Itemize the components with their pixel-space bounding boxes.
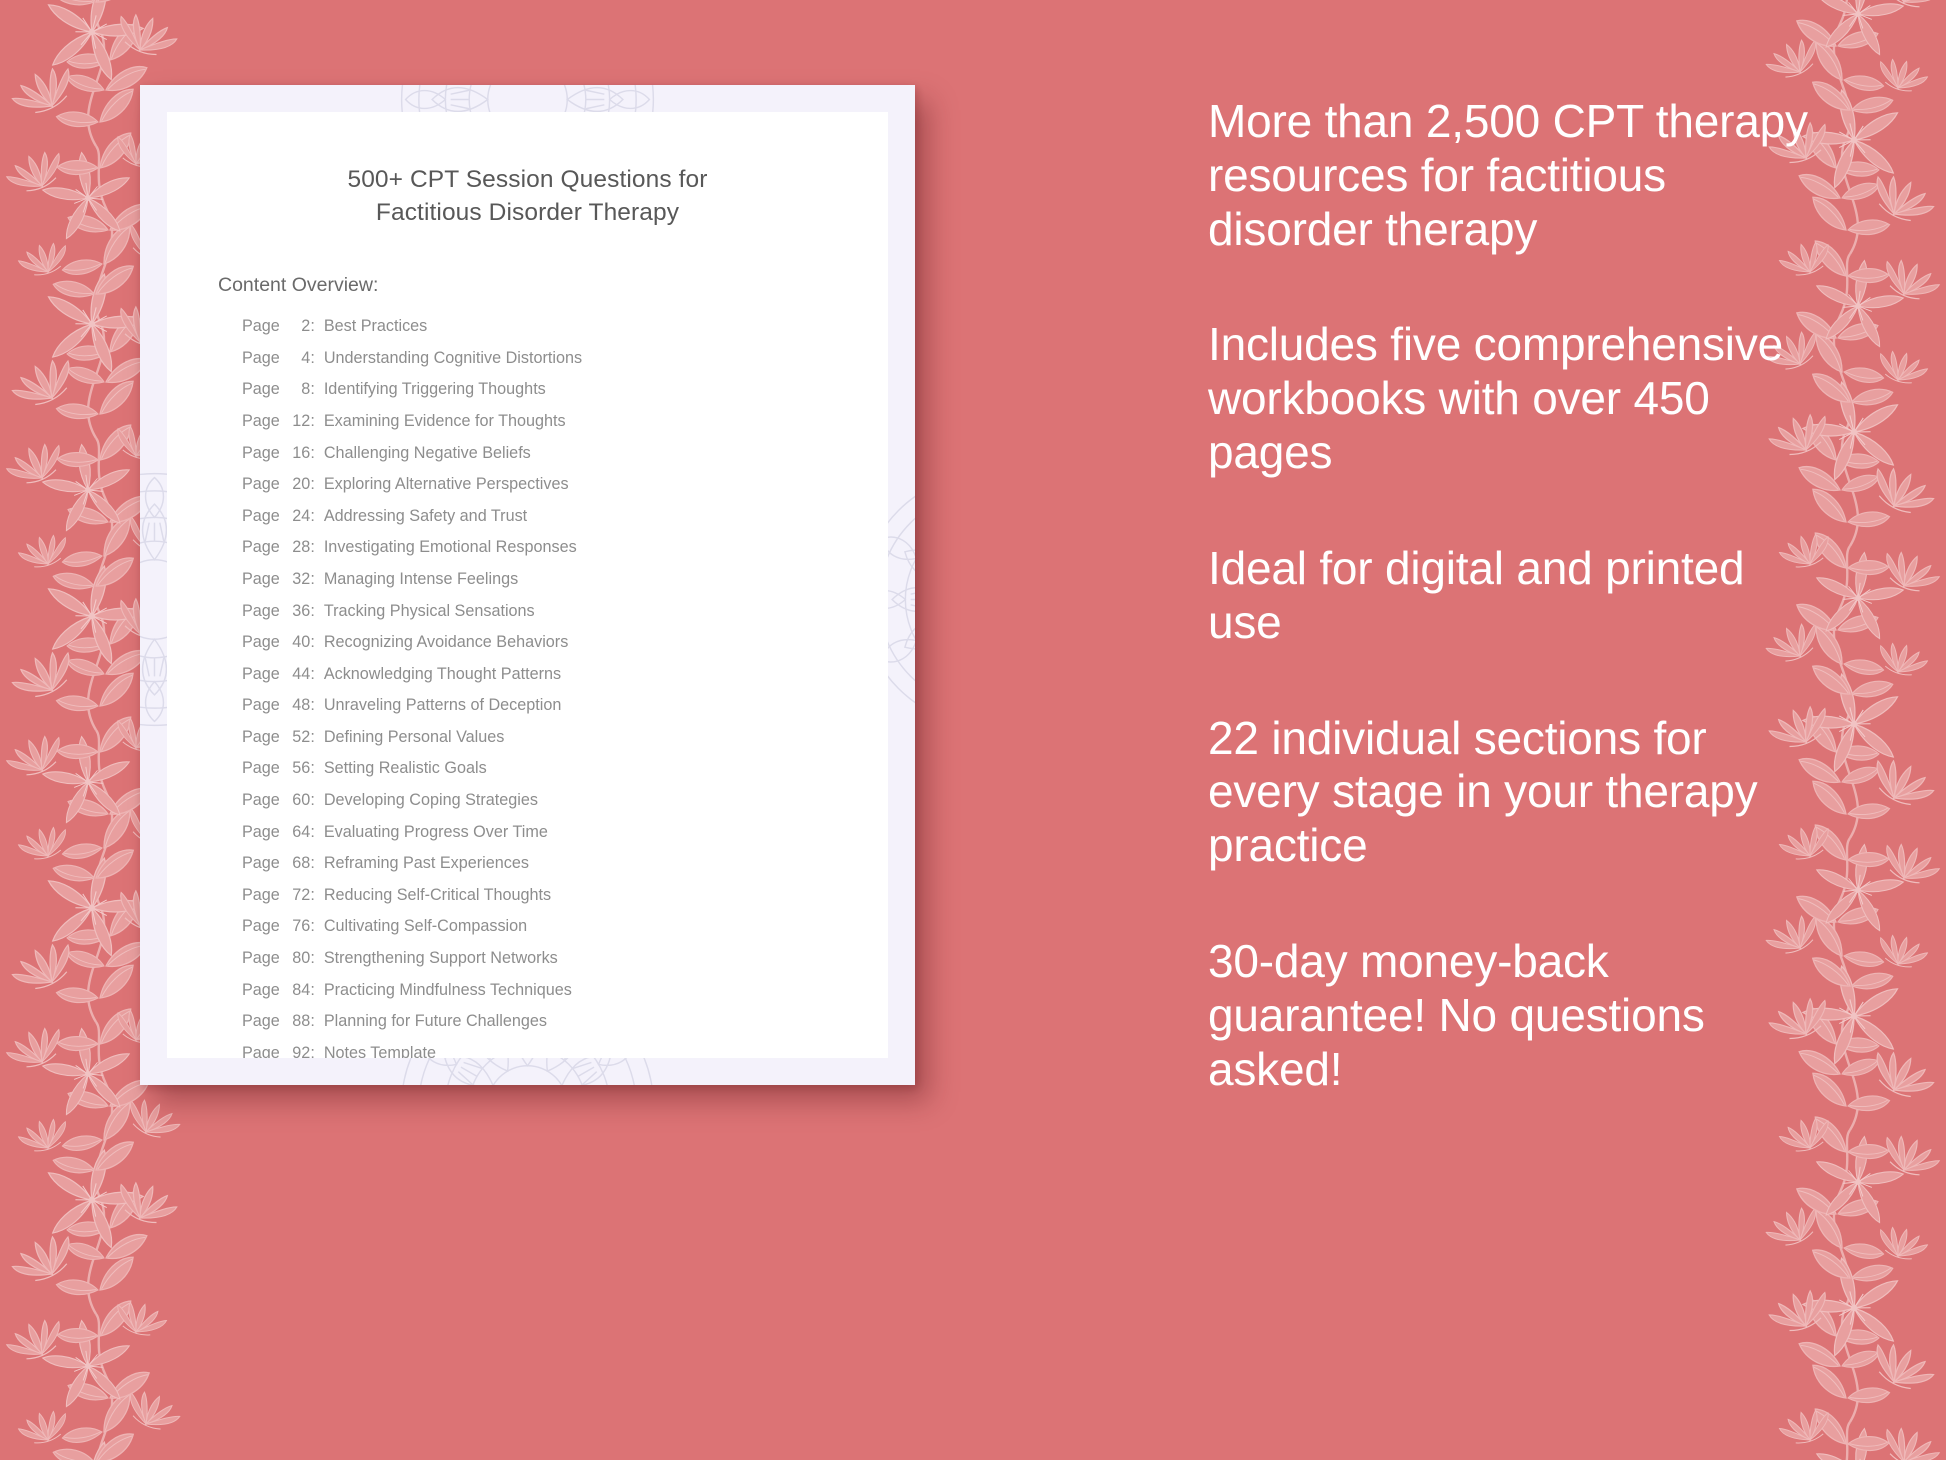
toc-entry-title: Setting Realistic Goals [324, 760, 487, 776]
toc-page-number: 76 [284, 918, 310, 934]
toc-page-number: 92 [284, 1045, 310, 1058]
toc-page-word: Page [242, 318, 280, 334]
toc-entry-title: Exploring Alternative Perspectives [324, 476, 569, 492]
toc-colon: : [310, 539, 315, 555]
toc-entry[interactable]: Page 80:Strengthening Support Networks [242, 950, 888, 982]
toc-colon: : [310, 824, 315, 840]
toc-colon: : [310, 603, 315, 619]
toc-entry-title: Unraveling Patterns of Deception [324, 697, 562, 713]
toc-entry[interactable]: Page 36:Tracking Physical Sensations [242, 603, 888, 635]
toc-page-number: 16 [284, 445, 310, 461]
toc-colon: : [310, 445, 315, 461]
toc-page-word: Page [242, 887, 280, 903]
toc-page-word: Page [242, 603, 280, 619]
toc-entry-title: Recognizing Avoidance Behaviors [324, 634, 568, 650]
toc-colon: : [310, 1013, 315, 1029]
toc-entry[interactable]: Page 60:Developing Coping Strategies [242, 792, 888, 824]
toc-entry-title: Notes Template [324, 1045, 436, 1058]
toc-page-number: 60 [284, 792, 310, 808]
toc-page-word: Page [242, 539, 280, 555]
toc-entry[interactable]: Page 8:Identifying Triggering Thoughts [242, 381, 888, 413]
toc-entry[interactable]: Page 56:Setting Realistic Goals [242, 760, 888, 792]
toc-colon: : [310, 697, 315, 713]
toc-entry-title: Reframing Past Experiences [324, 855, 529, 871]
toc-entry-title: Strengthening Support Networks [324, 950, 558, 966]
toc-page-number: 32 [284, 571, 310, 587]
toc-page-word: Page [242, 982, 280, 998]
toc-entry-title: Evaluating Progress Over Time [324, 824, 548, 840]
toc-colon: : [310, 508, 315, 524]
toc-page-word: Page [242, 413, 280, 429]
toc-entry-title: Best Practices [324, 318, 427, 334]
toc-colon: : [310, 887, 315, 903]
toc-page-number: 24 [284, 508, 310, 524]
toc-page-number: 20 [284, 476, 310, 492]
toc-page-word: Page [242, 697, 280, 713]
content-overview-label: Content Overview: [218, 274, 888, 297]
toc-page-word: Page [242, 634, 280, 650]
document-title-line-2: Factitious Disorder Therapy [207, 197, 848, 230]
toc-entry[interactable]: Page 2:Best Practices [242, 318, 888, 350]
toc-page-word: Page [242, 760, 280, 776]
toc-colon: : [310, 634, 315, 650]
toc-entry[interactable]: Page 92:Notes Template [242, 1045, 888, 1058]
toc-page-word: Page [242, 855, 280, 871]
toc-entry-title: Challenging Negative Beliefs [324, 445, 531, 461]
toc-entry[interactable]: Page 64:Evaluating Progress Over Time [242, 824, 888, 856]
toc-entry[interactable]: Page 44:Acknowledging Thought Patterns [242, 666, 888, 698]
toc-page-word: Page [242, 508, 280, 524]
toc-page-word: Page [242, 1045, 280, 1058]
toc-page-number: 8 [284, 381, 310, 397]
toc-colon: : [310, 318, 315, 334]
toc-entry-title: Developing Coping Strategies [324, 792, 538, 808]
toc-page-number: 72 [284, 887, 310, 903]
toc-page-number: 28 [284, 539, 310, 555]
toc-entry[interactable]: Page 24:Addressing Safety and Trust [242, 508, 888, 540]
toc-entry-title: Practicing Mindfulness Techniques [324, 982, 572, 998]
toc-entry[interactable]: Page 32:Managing Intense Feelings [242, 571, 888, 603]
toc-page-word: Page [242, 381, 280, 397]
toc-entry-title: Identifying Triggering Thoughts [324, 381, 546, 397]
document-title-line-1: 500+ CPT Session Questions for [207, 164, 848, 197]
marketing-bullet: More than 2,500 CPT therapy resources fo… [1208, 95, 1808, 256]
toc-page-number: 2 [284, 318, 310, 334]
document-title: 500+ CPT Session Questions for Factitiou… [167, 164, 888, 229]
toc-page-word: Page [242, 445, 280, 461]
toc-page-number: 80 [284, 950, 310, 966]
toc-entry[interactable]: Page 76:Cultivating Self-Compassion [242, 918, 888, 950]
toc-entry[interactable]: Page 20:Exploring Alternative Perspectiv… [242, 476, 888, 508]
toc-page-word: Page [242, 350, 280, 366]
marketing-bullet: 30-day money-back guarantee! No question… [1208, 935, 1808, 1096]
toc-page-number: 52 [284, 729, 310, 745]
toc-page-word: Page [242, 571, 280, 587]
toc-entry[interactable]: Page 40:Recognizing Avoidance Behaviors [242, 634, 888, 666]
toc-colon: : [310, 729, 315, 745]
toc-page-word: Page [242, 918, 280, 934]
toc-entry[interactable]: Page 12:Examining Evidence for Thoughts [242, 413, 888, 445]
toc-page-word: Page [242, 824, 280, 840]
toc-colon: : [310, 476, 315, 492]
toc-entry[interactable]: Page 68:Reframing Past Experiences [242, 855, 888, 887]
toc-entry-title: Cultivating Self-Compassion [324, 918, 527, 934]
document-page: 500+ CPT Session Questions for Factitiou… [167, 112, 888, 1058]
toc-entry-title: Reducing Self-Critical Thoughts [324, 887, 551, 903]
marketing-copy-column: More than 2,500 CPT therapy resources fo… [1208, 95, 1808, 1096]
toc-entry-title: Examining Evidence for Thoughts [324, 413, 566, 429]
toc-colon: : [310, 918, 315, 934]
toc-entry-title: Defining Personal Values [324, 729, 505, 745]
toc-entry-title: Investigating Emotional Responses [324, 539, 577, 555]
toc-entry[interactable]: Page 4:Understanding Cognitive Distortio… [242, 350, 888, 382]
toc-page-number: 64 [284, 824, 310, 840]
toc-entry-title: Managing Intense Feelings [324, 571, 518, 587]
toc-page-number: 4 [284, 350, 310, 366]
toc-page-word: Page [242, 1013, 280, 1029]
toc-page-number: 88 [284, 1013, 310, 1029]
toc-colon: : [310, 950, 315, 966]
toc-page-word: Page [242, 950, 280, 966]
toc-colon: : [310, 855, 315, 871]
toc-colon: : [310, 381, 315, 397]
marketing-bullet: Ideal for digital and printed use [1208, 542, 1808, 650]
toc-colon: : [310, 982, 315, 998]
toc-entry[interactable]: Page 28:Investigating Emotional Response… [242, 539, 888, 571]
toc-page-number: 44 [284, 666, 310, 682]
toc-page-number: 48 [284, 697, 310, 713]
toc-entry[interactable]: Page 88:Planning for Future Challenges [242, 1013, 888, 1045]
toc-entry-title: Understanding Cognitive Distortions [324, 350, 582, 366]
toc-page-word: Page [242, 792, 280, 808]
toc-page-word: Page [242, 476, 280, 492]
toc-entry[interactable]: Page 72:Reducing Self-Critical Thoughts [242, 887, 888, 919]
toc-page-number: 56 [284, 760, 310, 776]
toc-colon: : [310, 1045, 315, 1058]
toc-entry-title: Acknowledging Thought Patterns [324, 666, 561, 682]
toc-page-number: 84 [284, 982, 310, 998]
document-preview-sheet[interactable]: 500+ CPT Session Questions for Factitiou… [140, 85, 915, 1085]
toc-entry[interactable]: Page 48:Unraveling Patterns of Deception [242, 697, 888, 729]
toc-colon: : [310, 792, 315, 808]
toc-entry-title: Tracking Physical Sensations [324, 603, 535, 619]
toc-entry[interactable]: Page 84:Practicing Mindfulness Technique… [242, 982, 888, 1014]
marketing-bullet: 22 individual sections for every stage i… [1208, 712, 1808, 873]
toc-entry-title: Planning for Future Challenges [324, 1013, 547, 1029]
toc-colon: : [310, 350, 315, 366]
toc-page-word: Page [242, 729, 280, 745]
toc-page-number: 68 [284, 855, 310, 871]
toc-entry[interactable]: Page 52:Defining Personal Values [242, 729, 888, 761]
toc-page-number: 12 [284, 413, 310, 429]
toc-entry[interactable]: Page 16:Challenging Negative Beliefs [242, 445, 888, 477]
toc-colon: : [310, 571, 315, 587]
toc-entry-title: Addressing Safety and Trust [324, 508, 527, 524]
table-of-contents-list: Page 2:Best PracticesPage 4:Understandin… [242, 318, 888, 1058]
toc-page-number: 36 [284, 603, 310, 619]
toc-colon: : [310, 666, 315, 682]
toc-colon: : [310, 413, 315, 429]
toc-page-number: 40 [284, 634, 310, 650]
toc-colon: : [310, 760, 315, 776]
toc-page-word: Page [242, 666, 280, 682]
marketing-bullet: Includes five comprehensive workbooks wi… [1208, 318, 1808, 479]
